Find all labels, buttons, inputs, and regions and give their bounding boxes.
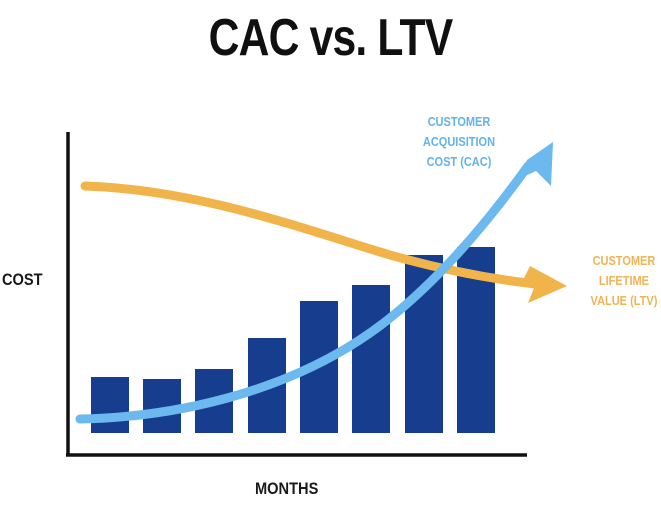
- legend-cac-line-3: COST (CAC): [423, 152, 495, 172]
- legend-ltv: CUSTOMER LIFETIME VALUE (LTV): [591, 251, 658, 311]
- legend-cac: CUSTOMER ACQUISITION COST (CAC): [423, 112, 495, 172]
- x-axis-label: MONTHS: [255, 479, 318, 499]
- legend-cac-line-2: ACQUISITION: [423, 132, 495, 152]
- bar-1: [91, 377, 129, 433]
- chart-container: CAC vs. LTV COST MONTHS CUSTOMER: [0, 0, 661, 512]
- legend-cac-line-1: CUSTOMER: [423, 112, 495, 132]
- legend-ltv-line-1: CUSTOMER: [591, 251, 658, 271]
- legend-ltv-line-2: LIFETIME: [591, 271, 658, 291]
- legend-ltv-line-3: VALUE (LTV): [591, 291, 658, 311]
- chart-canvas: [0, 0, 661, 512]
- bar-6: [352, 285, 390, 433]
- y-axis-label: COST: [2, 270, 43, 290]
- cac-arrowhead: [521, 142, 553, 186]
- bar-7: [405, 255, 443, 433]
